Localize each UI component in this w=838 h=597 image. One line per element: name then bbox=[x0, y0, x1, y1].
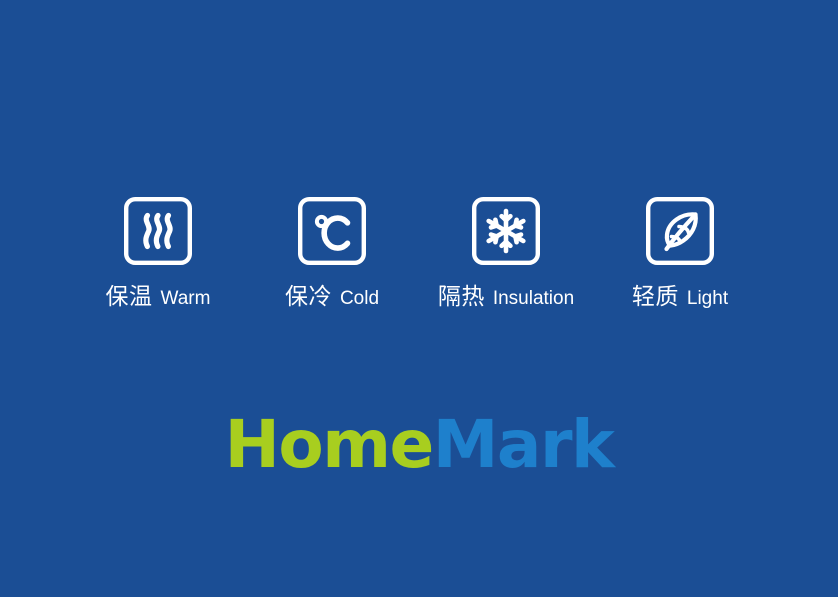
celsius-degree-icon bbox=[297, 196, 367, 266]
feature-item-insulation: 隔热 Insulation bbox=[419, 196, 593, 309]
feature-label-warm: 保温 Warm bbox=[106, 286, 211, 309]
feather-leaf-icon bbox=[645, 196, 715, 266]
feature-label-en: Warm bbox=[161, 289, 211, 308]
feature-row: 保温 Warm 保冷 Cold bbox=[0, 196, 838, 309]
feature-item-cold: 保冷 Cold bbox=[245, 196, 419, 309]
feature-label-light: 轻质 Light bbox=[632, 286, 728, 309]
heat-waves-icon bbox=[123, 196, 193, 266]
snowflake-icon bbox=[471, 196, 541, 266]
feature-label-cn: 轻质 bbox=[632, 286, 679, 309]
brand-logo-part-home: Home bbox=[225, 406, 433, 483]
feature-label-cold: 保冷 Cold bbox=[285, 286, 379, 309]
brand-logo-text: HomeMark bbox=[225, 412, 614, 478]
brand-logo-part-mark: Mark bbox=[433, 406, 614, 483]
feature-label-cn: 隔热 bbox=[438, 286, 485, 309]
feature-label-insulation: 隔热 Insulation bbox=[438, 286, 574, 309]
feature-item-warm: 保温 Warm bbox=[71, 196, 245, 309]
brand-logo: HomeMark bbox=[0, 412, 838, 478]
feature-label-en: Insulation bbox=[493, 289, 574, 308]
poster-canvas: 保温 Warm 保冷 Cold bbox=[0, 0, 838, 597]
feature-label-cn: 保温 bbox=[106, 286, 153, 309]
feature-item-light: 轻质 Light bbox=[593, 196, 767, 309]
feature-label-en: Light bbox=[687, 289, 728, 308]
feature-label-cn: 保冷 bbox=[285, 286, 332, 309]
feature-label-en: Cold bbox=[340, 289, 379, 308]
